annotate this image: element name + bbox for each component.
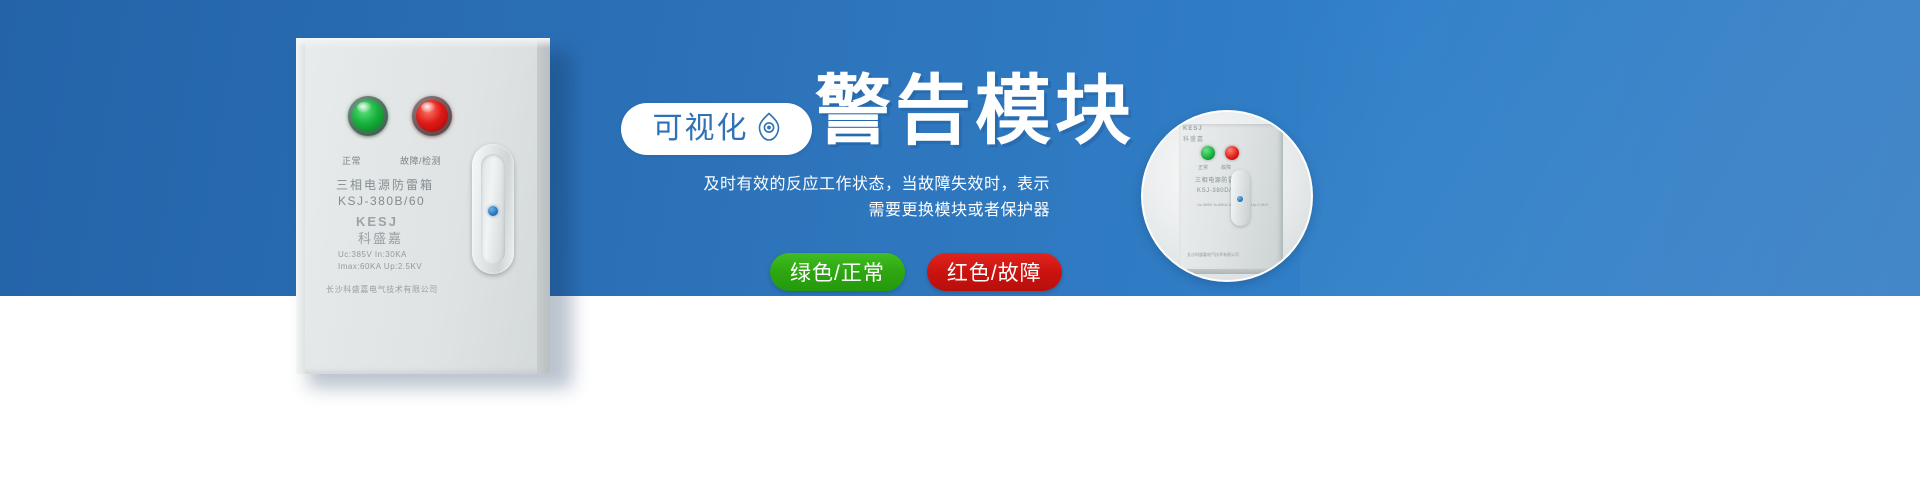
inset-brand-chinese: 科盛嘉	[1183, 134, 1204, 143]
subtitle-line-1: 及时有效的反应工作状态，当故障失效时，表示	[650, 172, 1050, 198]
device-top-highlight	[296, 38, 550, 48]
lamp-gloss	[357, 102, 372, 113]
inset-device-base	[1187, 269, 1275, 274]
visualization-pill: 可视化	[621, 103, 812, 155]
device-right-edge	[537, 38, 550, 374]
inset-door-handle	[1231, 170, 1250, 226]
device-brand-chinese: 科盛嘉	[358, 228, 403, 247]
device-spec-line-1: Uc:385V In:30KA	[338, 250, 407, 259]
lamp-label-fault: 故障/检测	[400, 154, 441, 167]
subtitle-line-2: 需要更换模块或者保护器	[650, 198, 1050, 224]
device-model-number: KSJ-380B/60	[338, 194, 425, 208]
lamp-label-normal: 正常	[342, 154, 361, 167]
status-badge-fault[interactable]: 红色/故障	[927, 253, 1062, 291]
banner-headline: 警告模块	[815, 74, 1135, 150]
status-badge-normal[interactable]: 绿色/正常	[770, 253, 905, 291]
device-product-title: 三相电源防雷箱	[336, 176, 434, 193]
device-company-name: 长沙科盛嘉电气技术有限公司	[326, 284, 438, 295]
indicator-lamp-green	[348, 96, 388, 136]
inset-lamp-label-normal: 正常	[1198, 164, 1208, 171]
handle-lock-dot	[488, 206, 498, 216]
promo-banner: 正常 故障/检测 三相电源防雷箱 KSJ-380B/60 KESJ 科盛嘉 Uc…	[0, 0, 1920, 500]
device-spec-line-2: Imax:60KA Up:2.5KV	[338, 262, 422, 271]
location-eye-icon	[757, 112, 781, 147]
inset-company-name: 长沙科盛嘉电气技术有限公司	[1187, 252, 1239, 258]
inset-indicator-lamp-red	[1225, 146, 1239, 160]
device-door-handle	[472, 144, 514, 274]
device-brand-latin: KESJ	[356, 214, 398, 229]
status-badge-group: 绿色/正常 红色/故障	[770, 253, 1062, 291]
inset-indicator-lamp-green	[1201, 146, 1215, 160]
lamp-gloss	[421, 102, 436, 113]
visualization-pill-label: 可视化	[653, 114, 749, 144]
inset-brand-latin: KESJ	[1183, 126, 1203, 132]
indicator-lamp-red	[412, 96, 452, 136]
device-photo: 正常 故障/检测 三相电源防雷箱 KSJ-380B/60 KESJ 科盛嘉 Uc…	[296, 38, 560, 374]
device-left-edge	[296, 38, 305, 374]
banner-subtitle: 及时有效的反应工作状态，当故障失效时，表示 需要更换模块或者保护器	[650, 172, 1050, 223]
inset-lamp-label-fault: 故障	[1221, 164, 1231, 171]
device-inset-photo: KESJ 科盛嘉 正常 故障 三相电源防雷箱 KSJ-380D/120 Uc:3…	[1141, 110, 1313, 282]
inset-handle-lock-dot	[1237, 196, 1243, 202]
